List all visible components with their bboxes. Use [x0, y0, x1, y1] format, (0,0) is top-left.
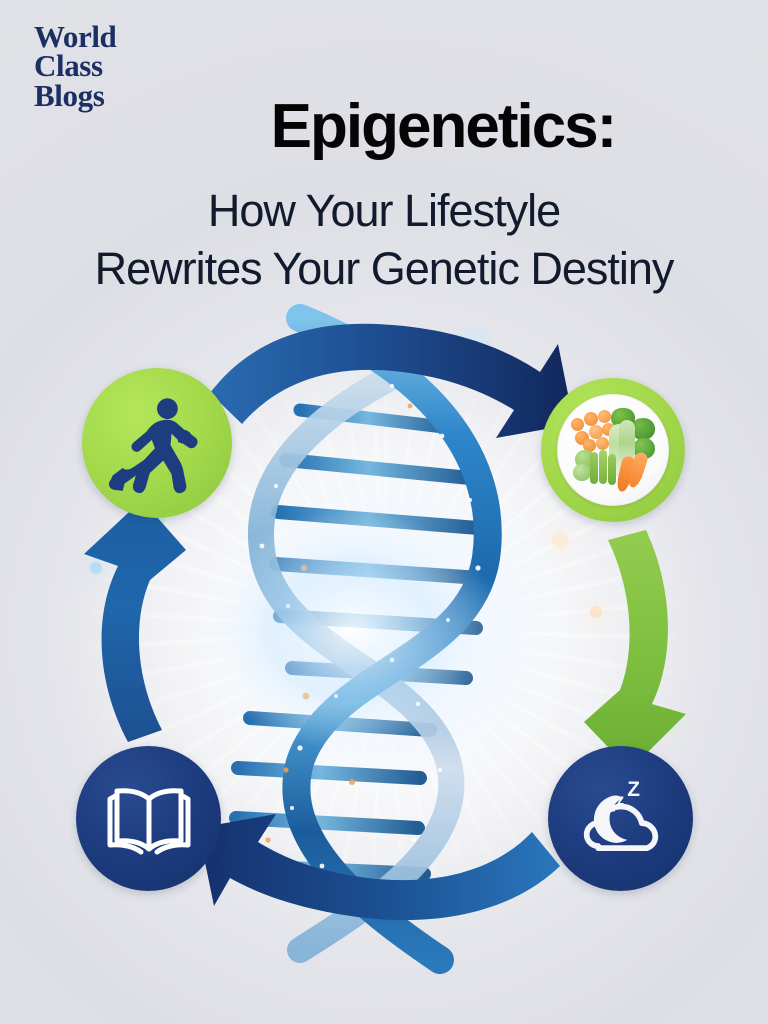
cycle-node-exercise[interactable]	[82, 368, 232, 518]
svg-text:z: z	[609, 802, 615, 814]
poster-canvas: World Class Blogs Epigenetics: How Your …	[0, 0, 768, 1024]
cycle-node-reading[interactable]	[76, 746, 221, 891]
svg-text:z: z	[616, 792, 623, 808]
running-person-icon	[105, 391, 209, 495]
svg-text:Z: Z	[627, 778, 640, 801]
cycle-node-nutrition[interactable]	[541, 378, 685, 522]
arrow-nutrition-to-sleep	[584, 530, 686, 770]
open-book-icon	[99, 769, 199, 869]
arrow-exercise-to-nutrition	[210, 324, 574, 438]
moon-cloud-zzz-icon: Z z z	[569, 767, 673, 871]
arrow-reading-to-exercise	[84, 500, 186, 742]
cycle-node-sleep[interactable]: Z z z	[548, 746, 693, 891]
arrow-sleep-to-reading	[198, 814, 560, 920]
plate-of-vegetables-icon	[557, 394, 669, 506]
